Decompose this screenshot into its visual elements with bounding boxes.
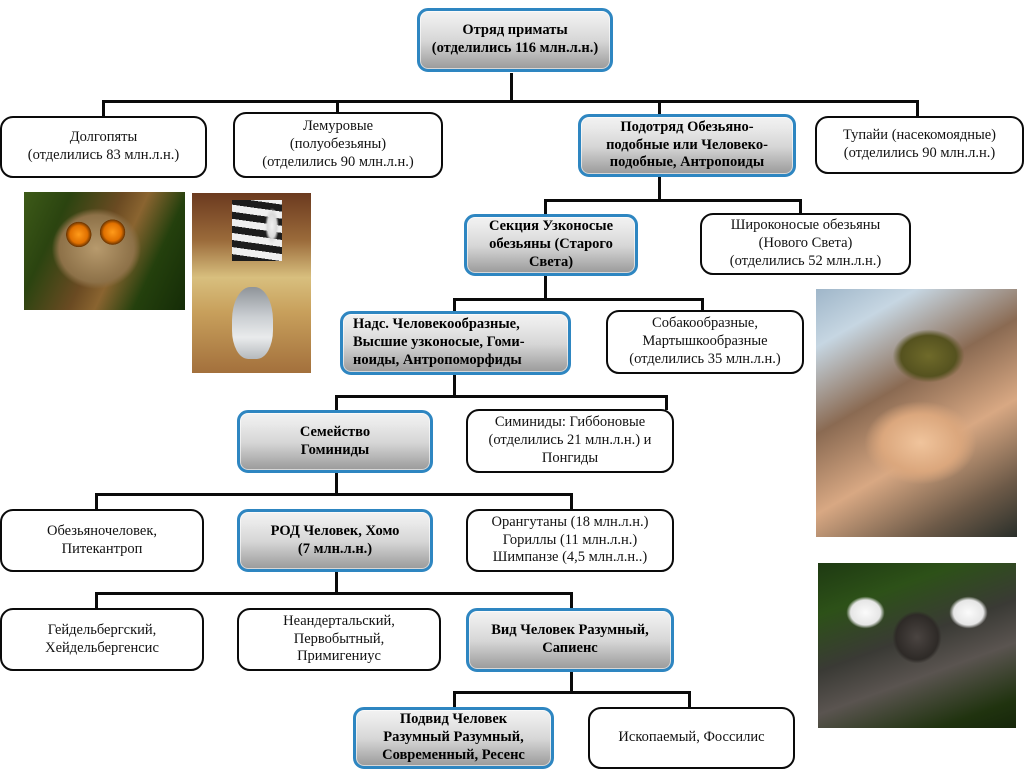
node-homo-label: РОД Человек, Хомо (7 млн.л.н.) [240, 523, 430, 558]
node-fossilis-label: Ископаемый, Фоссилис [590, 729, 793, 747]
connector-row8-drop-fossilis [688, 691, 691, 707]
node-hominidae[interactable]: Семейство Гоминиды [237, 410, 433, 473]
node-hominidae-label: Семейство Гоминиды [240, 424, 430, 459]
node-neanderthal[interactable]: Неандертальский, Первобытный, Примигениу… [237, 608, 441, 671]
connector-row3-drop-catarrhini [544, 199, 547, 215]
node-siminidae[interactable]: Симиниды: Гиббоновые (отделились 21 млн.… [466, 409, 674, 473]
connector-row4-bus [453, 298, 704, 301]
connector-root-stem [510, 73, 513, 100]
node-hominoids-label: Надс. Человекообразные, Высшие узконосые… [343, 316, 568, 369]
node-heidelbergensis-label: Гейдельбергский, Хейдельбергенсис [2, 622, 202, 657]
photo-tupaia [816, 289, 1017, 537]
connector-catarrhini-stem [544, 276, 547, 298]
node-sapiens[interactable]: Вид Человек Разумный, Сапиенс [466, 608, 674, 672]
connector-row2-drop-tupaia [916, 100, 919, 116]
node-tarsiers[interactable]: Долгопяты (отделились 83 млн.л.н.) [0, 116, 207, 178]
connector-row5-drop-hominidae [335, 395, 338, 410]
connector-hominoids-stem [453, 375, 456, 395]
node-catarrhini[interactable]: Секция Узконосые обезьяны (Старого Света… [464, 214, 638, 276]
connector-row7-drop-sapiens [570, 592, 573, 608]
connector-anthropoids-stem [658, 177, 661, 199]
node-lemurs-label: Лемуровые (полуобезьяны) (отделились 90 … [235, 118, 441, 171]
node-great-apes[interactable]: Орангутаны (18 млн.л.н.) Гориллы (11 млн… [466, 509, 674, 572]
node-pithecanthropus[interactable]: Обезьяночеловек, Питекантроп [0, 509, 204, 572]
node-great-apes-label: Орангутаны (18 млн.л.н.) Гориллы (11 млн… [468, 514, 672, 567]
photo-tarsier [24, 192, 185, 310]
node-homo[interactable]: РОД Человек, Хомо (7 млн.л.н.) [237, 509, 433, 572]
connector-row7-bus [95, 592, 573, 595]
node-hominoids[interactable]: Надс. Человекообразные, Высшие узконосые… [340, 311, 571, 375]
connector-homo-stem [335, 572, 338, 592]
node-heidelbergensis[interactable]: Гейдельбергский, Хейдельбергенсис [0, 608, 204, 671]
node-primates-label: Отряд приматы (отделились 116 млн.л.н.) [420, 22, 610, 57]
node-anthropoids-label: Подотряд Обезьяно- подобные или Человеко… [581, 119, 793, 172]
connector-row2-bus [102, 100, 918, 103]
connector-row5-drop-siminidae [665, 395, 668, 410]
connector-sapiens-stem [570, 672, 573, 691]
node-recens[interactable]: Подвид Человек Разумный Разумный, Соврем… [353, 707, 554, 769]
node-anthropoids[interactable]: Подотряд Обезьяно- подобные или Человеко… [578, 114, 796, 177]
connector-row2-drop-tarsiers [102, 100, 105, 116]
node-lemurs[interactable]: Лемуровые (полуобезьяны) (отделились 90 … [233, 112, 443, 178]
connector-row6-drop-great-apes [570, 493, 573, 509]
node-recens-label: Подвид Человек Разумный Разумный, Соврем… [356, 711, 551, 764]
connector-row6-bus [95, 493, 573, 496]
connector-row3-bus [544, 199, 802, 202]
connector-row5-bus [335, 395, 668, 398]
node-platyrrhini[interactable]: Широконосые обезьяны (Нового Света) (отд… [700, 213, 911, 275]
node-platyrrhini-label: Широконосые обезьяны (Нового Света) (отд… [702, 217, 909, 270]
connector-row6-drop-pithecanthropus [95, 493, 98, 509]
node-sapiens-label: Вид Человек Разумный, Сапиенс [469, 622, 671, 657]
node-fossilis[interactable]: Ископаемый, Фоссилис [588, 707, 795, 769]
node-cercopithecoids-label: Собакообразные, Мартышкообразные (отдели… [608, 315, 802, 368]
connector-row8-bus [453, 691, 691, 694]
node-tupaia[interactable]: Тупайи (насекомоядные) (отделились 90 мл… [815, 116, 1024, 174]
photo-marmoset [818, 563, 1016, 728]
connector-hominidae-stem [335, 473, 338, 493]
node-siminidae-label: Симиниды: Гиббоновые (отделились 21 млн.… [468, 414, 672, 467]
connector-row8-drop-recens [453, 691, 456, 707]
connector-row4-drop-hominoids [453, 298, 456, 312]
connector-row7-drop-heidelbergensis [95, 592, 98, 608]
node-catarrhini-label: Секция Узконосые обезьяны (Старого Света… [467, 218, 635, 271]
node-tupaia-label: Тупайи (насекомоядные) (отделились 90 мл… [817, 127, 1022, 162]
node-cercopithecoids[interactable]: Собакообразные, Мартышкообразные (отдели… [606, 310, 804, 374]
primate-taxonomy-diagram: Отряд приматы (отделились 116 млн.л.н.) … [0, 0, 1024, 767]
photo-lemur [192, 193, 311, 373]
node-pithecanthropus-label: Обезьяночеловек, Питекантроп [2, 523, 202, 558]
node-tarsiers-label: Долгопяты (отделились 83 млн.л.н.) [2, 129, 205, 164]
node-primates[interactable]: Отряд приматы (отделились 116 млн.л.н.) [417, 8, 613, 72]
node-neanderthal-label: Неандертальский, Первобытный, Примигениу… [239, 613, 439, 666]
